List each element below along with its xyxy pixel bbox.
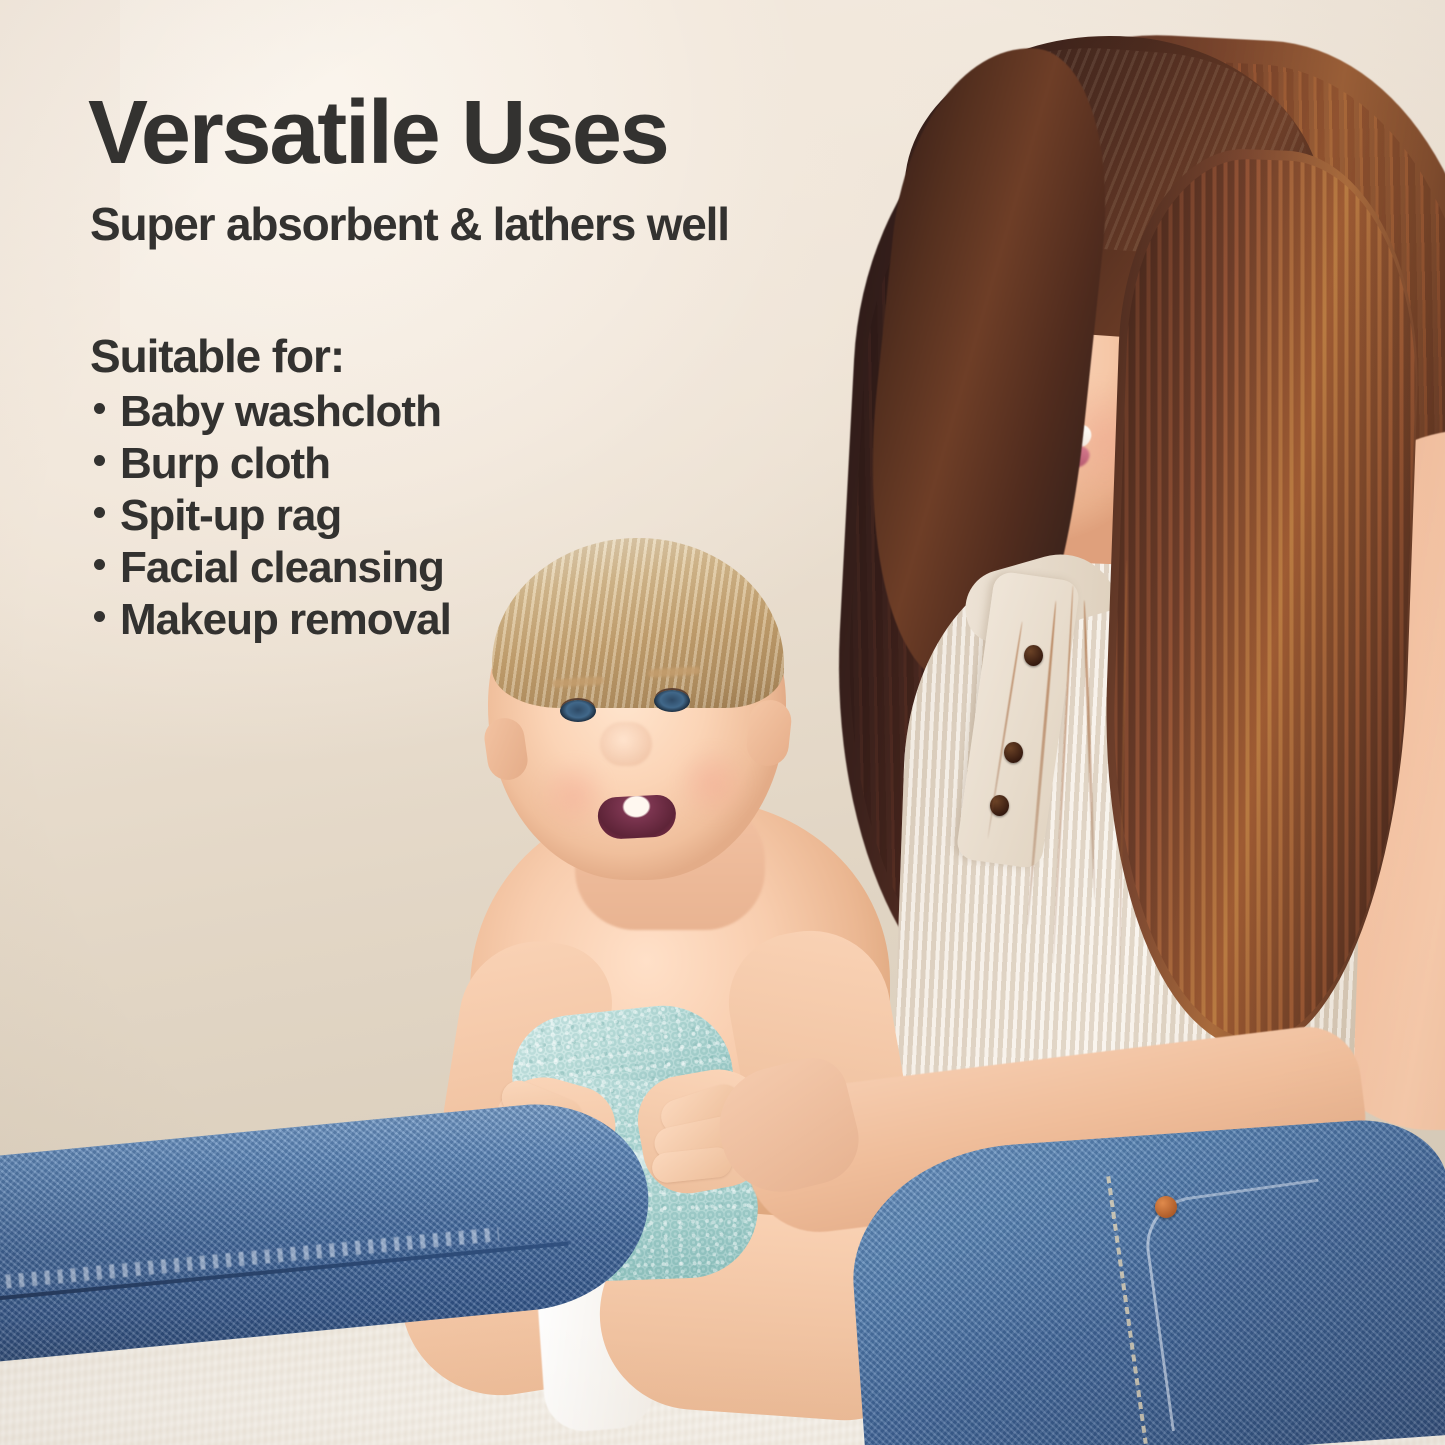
- use-list-item-label: Makeup removal: [120, 594, 451, 646]
- bullet-dot-icon: [94, 559, 105, 570]
- top-button-2: [1004, 742, 1023, 763]
- baby-eye-right: [654, 690, 690, 712]
- use-list-item-label: Spit-up rag: [120, 490, 341, 542]
- baby-ear-right: [745, 698, 794, 768]
- list-title: Suitable for:: [90, 332, 968, 380]
- marketing-copy-block: Versatile Uses Super absorbent & lathers…: [88, 88, 968, 646]
- baby-mouth: [597, 794, 677, 840]
- use-list-item: Makeup removal: [88, 594, 968, 646]
- use-list-item: Burp cloth: [88, 438, 968, 490]
- bullet-dot-icon: [94, 403, 105, 414]
- product-lifestyle-image: Versatile Uses Super absorbent & lathers…: [0, 0, 1445, 1445]
- use-list-item-label: Baby washcloth: [120, 386, 441, 438]
- use-list-item: Baby washcloth: [88, 386, 968, 438]
- subheadline: Super absorbent & lathers well: [90, 200, 968, 250]
- headline: Versatile Uses: [88, 88, 968, 178]
- use-list-item: Spit-up rag: [88, 490, 968, 542]
- top-button-1: [1024, 645, 1043, 666]
- baby-nose: [600, 722, 652, 766]
- baby-eye-left: [560, 700, 596, 722]
- uses-list: Baby washclothBurp clothSpit-up ragFacia…: [88, 386, 968, 646]
- jeans-rivet: [1155, 1196, 1177, 1218]
- baby-cheek-right: [672, 748, 752, 818]
- use-list-item-label: Burp cloth: [120, 438, 330, 490]
- use-list-item: Facial cleansing: [88, 542, 968, 594]
- use-list-item-label: Facial cleansing: [120, 542, 444, 594]
- bullet-dot-icon: [94, 507, 105, 518]
- bullet-dot-icon: [94, 455, 105, 466]
- bullet-dot-icon: [94, 611, 105, 622]
